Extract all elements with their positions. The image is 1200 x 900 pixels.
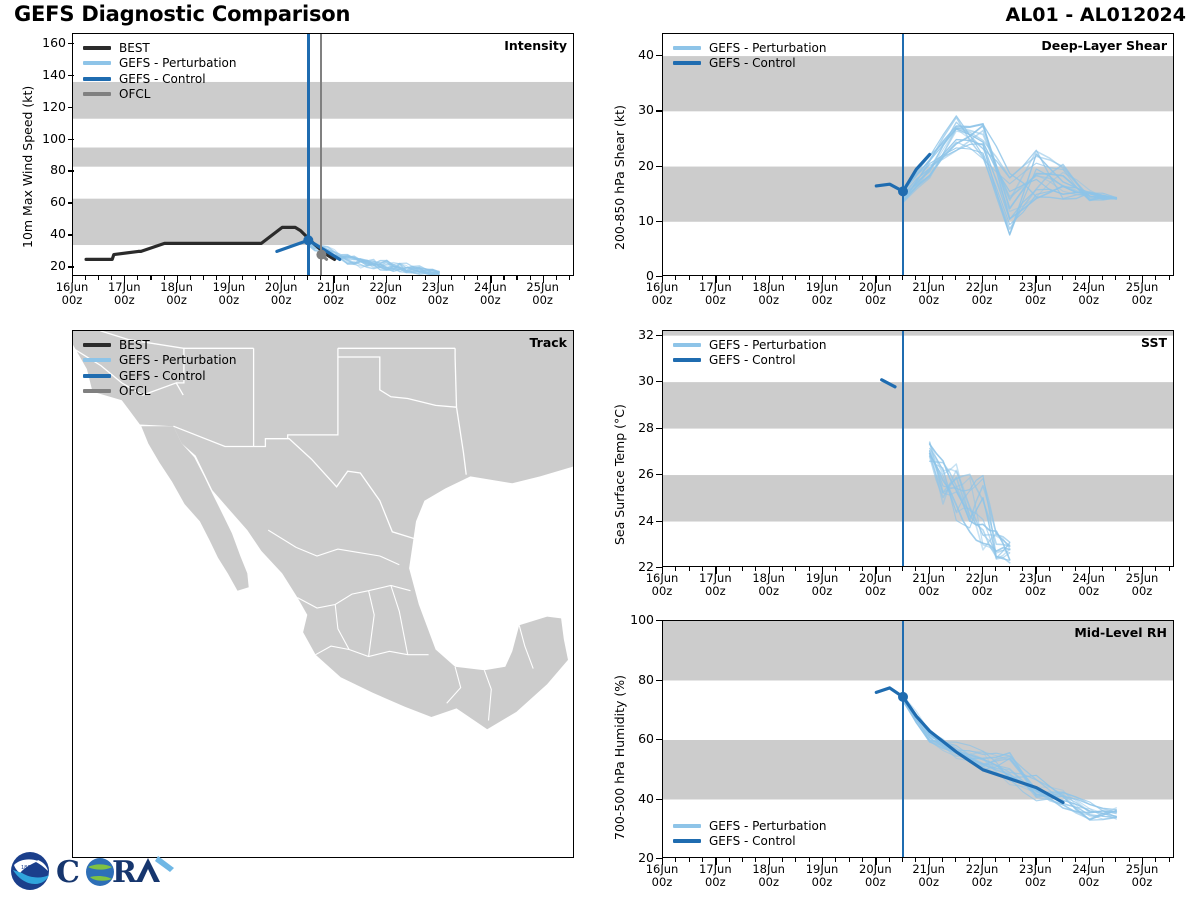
x-tick-label: 18Jun00z: [739, 863, 799, 889]
x-tick-label: 24Jun00z: [1059, 572, 1119, 598]
x-minor-tick: [689, 276, 690, 280]
x-tick-label: 20Jun00z: [845, 863, 905, 889]
analysis-time-line: [307, 34, 309, 275]
x-minor-tick: [689, 567, 690, 571]
panel-track: Track BEST GEFS - Perturbation GEFS - Co…: [72, 330, 574, 858]
legend-item-control: GEFS - Control: [673, 834, 826, 850]
y-tick-mark: [656, 55, 662, 56]
y-tick-label: 32: [622, 327, 654, 342]
legend-label-ofcl: OFCL: [119, 384, 150, 398]
legend-label-control: GEFS - Control: [709, 353, 796, 367]
legend-item-perturbation: GEFS - Perturbation: [83, 56, 236, 72]
x-tick-label: 18Jun00z: [739, 572, 799, 598]
y-tick-label: 80: [622, 672, 654, 687]
legend-label-perturbation: GEFS - Perturbation: [709, 338, 826, 352]
x-tick-label: 20Jun00z: [845, 281, 905, 307]
x-minor-tick: [1009, 276, 1010, 280]
panel-intensity: Intensity BEST GEFS - Perturbation GEFS …: [72, 33, 574, 276]
panel-shear-label: Deep-Layer Shear: [1041, 38, 1167, 53]
x-tick-label: 18Jun00z: [739, 281, 799, 307]
x-tick-label: 17Jun00z: [685, 572, 745, 598]
x-tick-label: 23Jun00z: [1005, 572, 1065, 598]
legend-item-perturbation: GEFS - Perturbation: [673, 337, 826, 353]
analysis-time-line: [902, 331, 904, 566]
x-minor-tick: [795, 276, 796, 280]
panel-track-label: Track: [530, 335, 567, 350]
legend-label-ofcl: OFCL: [119, 87, 150, 101]
legend-label-control: GEFS - Control: [709, 834, 796, 848]
x-tick-label: 22Jun00z: [952, 572, 1012, 598]
legend-item-ofcl: OFCL: [83, 87, 236, 103]
x-minor-tick: [307, 276, 308, 280]
legend-item-perturbation: GEFS - Perturbation: [673, 40, 826, 56]
x-minor-tick: [255, 276, 256, 280]
y-tick-label: 60: [26, 194, 66, 209]
x-minor-tick: [902, 567, 903, 571]
legend-label-perturbation: GEFS - Perturbation: [119, 56, 236, 70]
panel-rh-label: Mid-Level RH: [1074, 625, 1167, 640]
y-tick-label: 100: [26, 131, 66, 146]
y-tick-mark: [656, 221, 662, 222]
y-tick-label: 24: [622, 513, 654, 528]
x-minor-tick: [742, 858, 743, 862]
legend-swatch-control: [673, 358, 701, 362]
legend-item-control: GEFS - Control: [83, 368, 236, 384]
x-minor-tick: [1169, 276, 1170, 280]
svg-text:R: R: [112, 855, 138, 890]
panel-sst: SST GEFS - Perturbation GEFS - Control: [662, 330, 1174, 567]
legend-item-best: BEST: [83, 40, 236, 56]
x-minor-tick: [203, 276, 204, 280]
x-minor-tick: [849, 567, 850, 571]
x-tick-label: 16Jun00z: [632, 863, 692, 889]
y-tick-label: 60: [622, 731, 654, 746]
x-tick-label: 22Jun00z: [952, 863, 1012, 889]
x-tick-label: 22Jun00z: [952, 281, 1012, 307]
x-minor-tick: [98, 276, 99, 280]
x-tick-label: 23Jun00z: [408, 281, 468, 307]
intensity-legend: BEST GEFS - Perturbation GEFS - Control …: [83, 40, 236, 102]
category-band: [663, 331, 1174, 336]
x-tick-label: 17Jun00z: [685, 281, 745, 307]
y-tick-mark: [656, 110, 662, 111]
y-tick-label: 40: [26, 226, 66, 241]
noaa-seagull-icon: 1807: [11, 852, 49, 890]
panel-sst-label: SST: [1141, 335, 1167, 350]
x-minor-tick: [955, 858, 956, 862]
x-minor-tick: [1115, 276, 1116, 280]
x-tick-label: 24Jun00z: [460, 281, 520, 307]
legend-item-control: GEFS - Control: [673, 353, 826, 369]
legend-label-control: GEFS - Control: [709, 56, 796, 70]
legend-item-control: GEFS - Control: [83, 71, 236, 87]
x-tick-label: 20Jun00z: [251, 281, 311, 307]
x-tick-label: 17Jun00z: [685, 863, 745, 889]
x-tick-label: 21Jun00z: [899, 572, 959, 598]
y-tick-mark: [656, 335, 662, 336]
x-minor-tick: [569, 276, 570, 280]
panel-intensity-label: Intensity: [504, 38, 567, 53]
x-minor-tick: [689, 858, 690, 862]
y-tick-label: 10: [622, 213, 654, 228]
x-tick-label: 25Jun00z: [513, 281, 573, 307]
legend-item-ofcl: OFCL: [83, 384, 236, 400]
legend-item-perturbation: GEFS - Perturbation: [83, 353, 236, 369]
x-minor-tick: [1009, 567, 1010, 571]
x-minor-tick: [902, 276, 903, 280]
y-tick-label: 28: [622, 420, 654, 435]
panel-mid-level-rh: Mid-Level RH GEFS - Perturbation GEFS - …: [662, 620, 1174, 858]
x-tick-label: 19Jun00z: [792, 863, 852, 889]
x-minor-tick: [902, 858, 903, 862]
legend-swatch-perturbation: [673, 343, 701, 347]
x-tick-label: 24Jun00z: [1059, 863, 1119, 889]
y-tick-mark: [656, 739, 662, 740]
rh-legend: GEFS - Perturbation GEFS - Control: [673, 818, 826, 849]
panel-deep-layer-shear: Deep-Layer Shear GEFS - Perturbation GEF…: [662, 33, 1174, 276]
x-tick-label: 19Jun00z: [792, 281, 852, 307]
x-tick-label: 16Jun00z: [632, 572, 692, 598]
legend-swatch-perturbation: [83, 358, 111, 362]
legend-swatch-control: [673, 61, 701, 65]
x-minor-tick: [742, 567, 743, 571]
y-tick-mark: [656, 521, 662, 522]
track-map-area: [73, 331, 574, 858]
legend-swatch-perturbation: [83, 61, 111, 65]
shear-ylabel: 200-850 hPa Shear (kt): [612, 105, 627, 250]
y-tick-label: 30: [622, 102, 654, 117]
y-tick-mark: [656, 166, 662, 167]
legend-label-perturbation: GEFS - Perturbation: [709, 819, 826, 833]
svg-text:C: C: [56, 855, 79, 890]
legend-label-perturbation: GEFS - Perturbation: [119, 353, 236, 367]
x-minor-tick: [742, 276, 743, 280]
category-band: [73, 199, 574, 245]
analysis-time-line: [902, 34, 904, 275]
x-tick-label: 25Jun00z: [1112, 281, 1172, 307]
cira-wordmark: C R: [56, 855, 174, 890]
legend-label-perturbation: GEFS - Perturbation: [709, 41, 826, 55]
x-tick-label: 18Jun00z: [147, 281, 207, 307]
x-minor-tick: [360, 276, 361, 280]
x-minor-tick: [1062, 567, 1063, 571]
legend-label-control: GEFS - Control: [119, 369, 206, 383]
x-minor-tick: [1115, 858, 1116, 862]
category-band: [663, 475, 1174, 521]
svg-text:1807: 1807: [21, 865, 34, 871]
x-minor-tick: [955, 276, 956, 280]
y-tick-mark: [656, 381, 662, 382]
y-tick-mark: [656, 799, 662, 800]
figure-root: GEFS Diagnostic Comparison AL01 - AL0120…: [0, 0, 1200, 900]
y-tick-mark: [656, 620, 662, 621]
x-tick-label: 17Jun00z: [94, 281, 154, 307]
y-tick-mark: [656, 474, 662, 475]
page-title: GEFS Diagnostic Comparison: [14, 2, 350, 26]
legend-label-best: BEST: [119, 41, 150, 55]
x-minor-tick: [1062, 858, 1063, 862]
x-tick-label: 24Jun00z: [1059, 281, 1119, 307]
track-legend: BEST GEFS - Perturbation GEFS - Control …: [83, 337, 236, 399]
legend-swatch-control: [673, 839, 701, 843]
y-tick-label: 100: [622, 612, 654, 627]
storm-id-title: AL01 - AL012024: [1006, 4, 1187, 26]
legend-label-control: GEFS - Control: [119, 72, 206, 86]
x-minor-tick: [412, 276, 413, 280]
legend-swatch-ofcl: [83, 92, 111, 96]
x-tick-label: 19Jun00z: [792, 572, 852, 598]
x-minor-tick: [516, 276, 517, 280]
x-tick-label: 16Jun00z: [42, 281, 102, 307]
x-tick-label: 16Jun00z: [632, 281, 692, 307]
x-tick-label: 20Jun00z: [845, 572, 905, 598]
y-tick-mark: [656, 680, 662, 681]
y-tick-label: 40: [622, 47, 654, 62]
x-minor-tick: [1169, 858, 1170, 862]
category-band: [663, 382, 1174, 428]
x-tick-label: 19Jun00z: [199, 281, 259, 307]
x-minor-tick: [1115, 567, 1116, 571]
y-tick-label: 30: [622, 373, 654, 388]
legend-swatch-ofcl: [83, 389, 111, 393]
shear-legend: GEFS - Perturbation GEFS - Control: [673, 40, 826, 71]
legend-swatch-perturbation: [673, 824, 701, 828]
x-tick-label: 25Jun00z: [1112, 572, 1172, 598]
legend-swatch-best: [83, 46, 111, 50]
legend-swatch-control: [83, 374, 111, 378]
x-minor-tick: [1009, 858, 1010, 862]
ofcl-time-line: [320, 34, 322, 275]
rh-ylabel: 700-500 hPa Humidity (%): [612, 675, 627, 840]
legend-item-perturbation: GEFS - Perturbation: [673, 818, 826, 834]
y-tick-label: 160: [26, 35, 66, 50]
legend-label-best: BEST: [119, 338, 150, 352]
x-tick-label: 23Jun00z: [1005, 863, 1065, 889]
x-tick-label: 25Jun00z: [1112, 863, 1172, 889]
x-minor-tick: [1062, 276, 1063, 280]
x-tick-label: 21Jun00z: [899, 281, 959, 307]
y-tick-label: 26: [622, 466, 654, 481]
y-tick-mark: [656, 428, 662, 429]
legend-swatch-control: [83, 77, 111, 81]
x-minor-tick: [849, 858, 850, 862]
category-band: [663, 740, 1174, 800]
sst-legend: GEFS - Perturbation GEFS - Control: [673, 337, 826, 368]
legend-item-control: GEFS - Control: [673, 56, 826, 72]
y-tick-label: 20: [26, 258, 66, 273]
x-minor-tick: [464, 276, 465, 280]
x-tick-label: 21Jun00z: [303, 281, 363, 307]
x-minor-tick: [849, 276, 850, 280]
x-minor-tick: [795, 567, 796, 571]
x-minor-tick: [150, 276, 151, 280]
analysis-time-line: [902, 621, 904, 857]
category-band: [73, 148, 574, 167]
y-tick-label: 140: [26, 67, 66, 82]
x-tick-label: 21Jun00z: [899, 863, 959, 889]
x-tick-label: 23Jun00z: [1005, 281, 1065, 307]
legend-swatch-best: [83, 343, 111, 347]
x-minor-tick: [795, 858, 796, 862]
x-minor-tick: [955, 567, 956, 571]
legend-item-best: BEST: [83, 337, 236, 353]
x-tick-label: 22Jun00z: [356, 281, 416, 307]
y-tick-label: 40: [622, 791, 654, 806]
y-tick-label: 20: [622, 158, 654, 173]
legend-swatch-perturbation: [673, 46, 701, 50]
y-tick-label: 80: [26, 162, 66, 177]
y-tick-label: 120: [26, 99, 66, 114]
x-minor-tick: [1169, 567, 1170, 571]
